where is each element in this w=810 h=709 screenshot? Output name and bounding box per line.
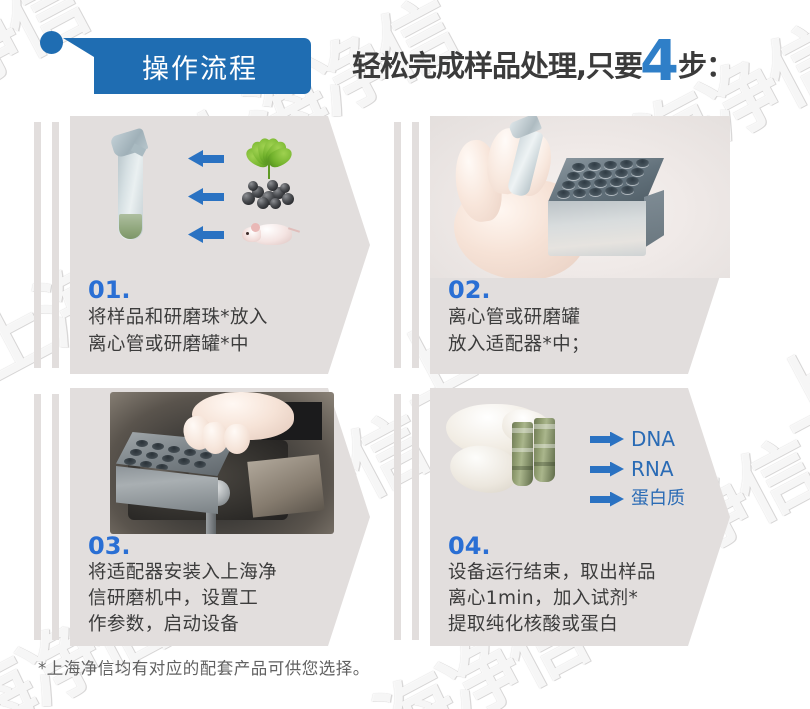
grinding-beads-icon bbox=[240, 178, 298, 210]
headline-part-2: 步 bbox=[678, 43, 706, 85]
headline-part-1: 轻松完成样品处理,只要 bbox=[352, 43, 642, 85]
leaf-icon bbox=[242, 136, 296, 180]
card-accent-bar-outer bbox=[394, 394, 401, 640]
step-card-04: DNA RNA 蛋白质 04. 设备运行结束，取出样品 离心1min，加入试剂*… bbox=[394, 388, 769, 646]
headline-colon: ： bbox=[706, 43, 735, 85]
arrow-right-icon bbox=[590, 462, 624, 477]
card-accent-bar-outer bbox=[394, 122, 401, 368]
headline-step-count: 4 bbox=[640, 40, 679, 85]
output-row-protein: 蛋白质 bbox=[590, 488, 685, 510]
centrifuge-tube-icon bbox=[112, 132, 146, 240]
arrow-left-icon bbox=[188, 188, 224, 205]
page-title: 轻松完成样品处理,只要 4 步 ： bbox=[352, 36, 735, 98]
blue-dot-icon bbox=[40, 31, 63, 54]
steps-row-top: 01. 将样品和研磨珠*放入 离心管或研磨罐*中 bbox=[0, 116, 810, 374]
banner-label: 操作流程 bbox=[63, 38, 311, 94]
step-card-02: 02. 离心管或研磨罐 放入适配器*中； bbox=[394, 116, 769, 374]
step-description-01: 将样品和研磨珠*放入 离心管或研磨罐*中 bbox=[88, 304, 360, 358]
step-text-04: 04. 设备运行结束，取出样品 离心1min，加入试剂* 提取纯化核酸或蛋白 bbox=[430, 532, 720, 638]
output-label-rna: RNA bbox=[631, 459, 674, 479]
sample-vial-icon bbox=[512, 422, 533, 486]
arrow-right-icon bbox=[590, 432, 624, 447]
step-media-03 bbox=[70, 388, 370, 550]
footnote: *上海净信均有对应的配套产品可供您选择。 bbox=[38, 655, 370, 679]
hand-icon bbox=[168, 388, 304, 458]
arrow-left-icon bbox=[188, 226, 224, 243]
mouse-icon bbox=[240, 216, 300, 250]
arrow-left-icon bbox=[188, 150, 224, 167]
step-number-04: 04. bbox=[448, 532, 720, 560]
step-card-03: 03. 将适配器安装入上海净 信研磨机中，设置工 作参数，启动设备 bbox=[34, 388, 409, 646]
step-number-02: 02. bbox=[448, 276, 720, 304]
card-accent-bar-outer bbox=[34, 394, 41, 640]
card-accent-bar-inner bbox=[52, 394, 59, 640]
step-text-01: 01. 将样品和研磨珠*放入 离心管或研磨罐*中 bbox=[70, 276, 360, 358]
step-number-03: 03. bbox=[88, 532, 360, 560]
adapter-block-icon bbox=[548, 158, 664, 256]
step-description-03: 将适配器安装入上海净 信研磨机中，设置工 作参数，启动设备 bbox=[88, 560, 360, 638]
step-number-01: 01. bbox=[88, 276, 360, 304]
card-accent-bar-inner bbox=[412, 122, 419, 368]
section-banner: 操作流程 bbox=[63, 38, 311, 94]
card-accent-bar-outer bbox=[34, 122, 41, 368]
step-description-02: 离心管或研磨罐 放入适配器*中； bbox=[448, 304, 720, 358]
step-card-01: 01. 将样品和研磨珠*放入 离心管或研磨罐*中 bbox=[34, 116, 409, 374]
step-media-01 bbox=[70, 116, 370, 278]
sample-vial-icon bbox=[534, 418, 555, 482]
page-header: 操作流程 轻松完成样品处理,只要 4 步 ： bbox=[0, 0, 810, 112]
step-text-03: 03. 将适配器安装入上海净 信研磨机中，设置工 作参数，启动设备 bbox=[70, 532, 360, 638]
card-accent-bar-inner bbox=[412, 394, 419, 640]
step-description-04: 设备运行结束，取出样品 离心1min，加入试剂* 提取纯化核酸或蛋白 bbox=[448, 560, 720, 638]
arrow-right-icon bbox=[590, 492, 624, 507]
step-media-04: DNA RNA 蛋白质 bbox=[430, 388, 730, 550]
output-row-dna: DNA bbox=[590, 428, 675, 450]
step-text-02: 02. 离心管或研磨罐 放入适配器*中； bbox=[430, 276, 720, 358]
steps-row-bottom: 03. 将适配器安装入上海净 信研磨机中，设置工 作参数，启动设备 D bbox=[0, 388, 810, 646]
output-label-protein: 蛋白质 bbox=[631, 489, 685, 509]
step-media-02 bbox=[430, 116, 730, 278]
output-label-dna: DNA bbox=[631, 429, 675, 449]
output-row-rna: RNA bbox=[590, 458, 674, 480]
card-accent-bar-inner bbox=[52, 122, 59, 368]
